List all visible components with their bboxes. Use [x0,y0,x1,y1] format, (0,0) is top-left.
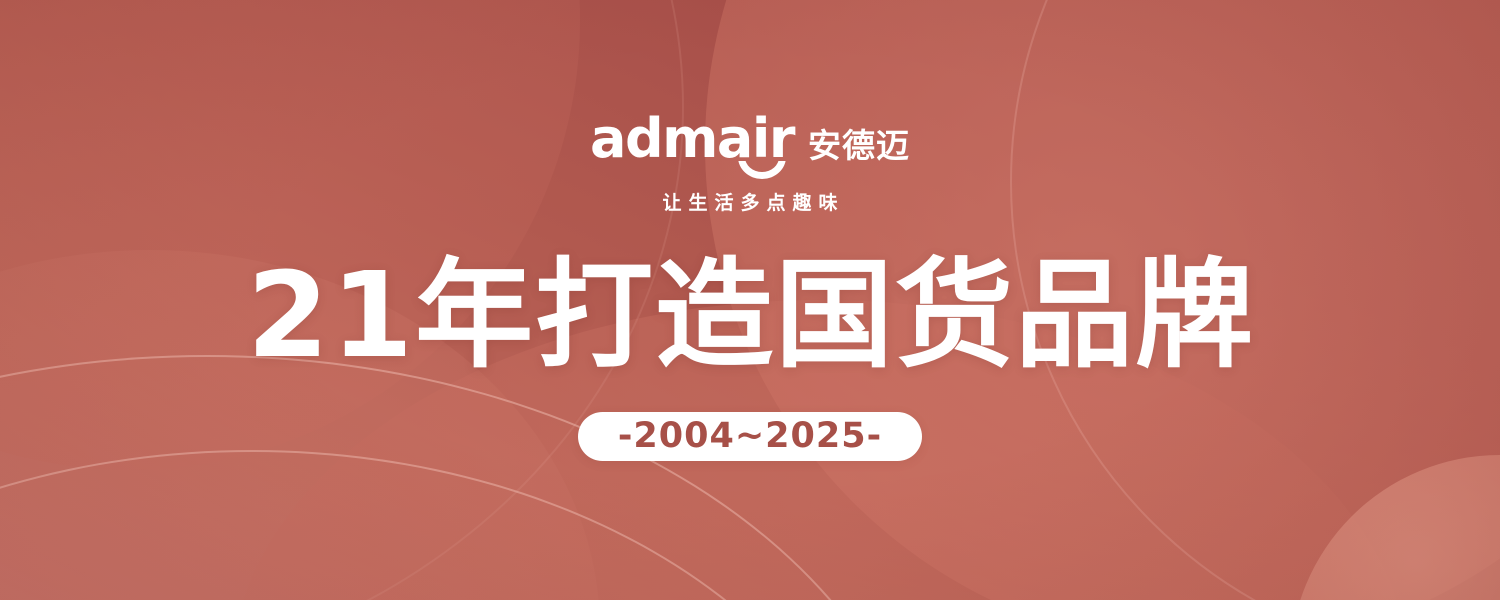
banner-content: admair 安德迈 让生活多点趣味 21年打造国货品牌 -2004~2025- [0,0,1500,600]
brand-name-cn: 安德迈 [808,129,910,166]
brand-logo-lockup: admair 安德迈 [0,104,1500,166]
smile-curve-icon [738,161,786,183]
year-range-badge: -2004~2025- [578,412,922,461]
brand-wordmark-wrap: admair [590,112,794,166]
year-range-text: -2004~2025- [618,419,882,454]
brand-wordmark: admair [590,112,794,166]
headline-text: 21年打造国货品牌 [0,252,1500,379]
brand-anniversary-banner: admair 安德迈 让生活多点趣味 21年打造国货品牌 -2004~2025- [0,0,1500,600]
brand-tagline: 让生活多点趣味 [0,188,1500,215]
